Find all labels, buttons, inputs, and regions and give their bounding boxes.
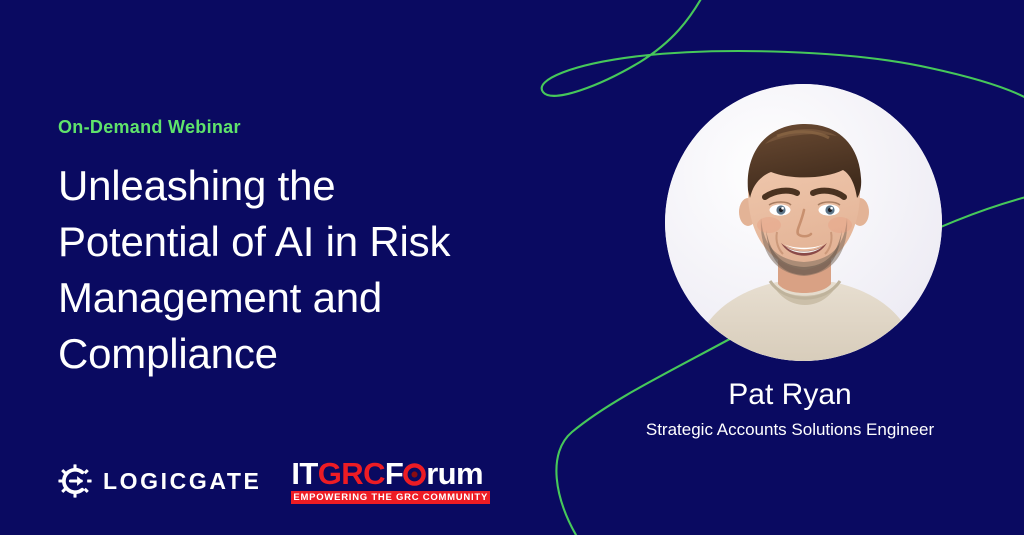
headline-block: On-Demand Webinar Unleashing the Potenti… — [58, 118, 508, 382]
itgrc-part-rum: rum — [426, 458, 483, 489]
logicgate-gear-arrow-icon — [58, 464, 92, 498]
itgrc-target-o-icon — [403, 463, 426, 486]
itgrc-part-f: F — [385, 458, 403, 489]
page-title: Unleashing the Potential of AI in Risk M… — [58, 158, 508, 382]
speaker-title: Strategic Accounts Solutions Engineer — [560, 419, 1020, 441]
itgrcforum-tagline: EMPOWERING THE GRC COMMUNITY — [291, 491, 490, 504]
logo-row: LOGICGATE ITGRCFrum EMPOWERING THE GRC C… — [58, 458, 490, 504]
speaker-name: Pat Ryan — [560, 378, 1020, 413]
logicgate-logo: LOGICGATE — [58, 464, 261, 498]
itgrcforum-logo: ITGRCFrum EMPOWERING THE GRC COMMUNITY — [291, 458, 490, 504]
speaker-block: Pat Ryan Strategic Accounts Solutions En… — [560, 378, 1020, 441]
itgrcforum-wordmark: ITGRCFrum — [291, 458, 490, 489]
itgrc-part-it: IT — [291, 458, 317, 489]
speaker-avatar — [665, 84, 942, 361]
webinar-promo-banner: On-Demand Webinar Unleashing the Potenti… — [0, 0, 1024, 535]
itgrc-part-grc: GRC — [318, 458, 385, 489]
logicgate-wordmark: LOGICGATE — [103, 470, 261, 493]
eyebrow-label: On-Demand Webinar — [58, 118, 508, 136]
